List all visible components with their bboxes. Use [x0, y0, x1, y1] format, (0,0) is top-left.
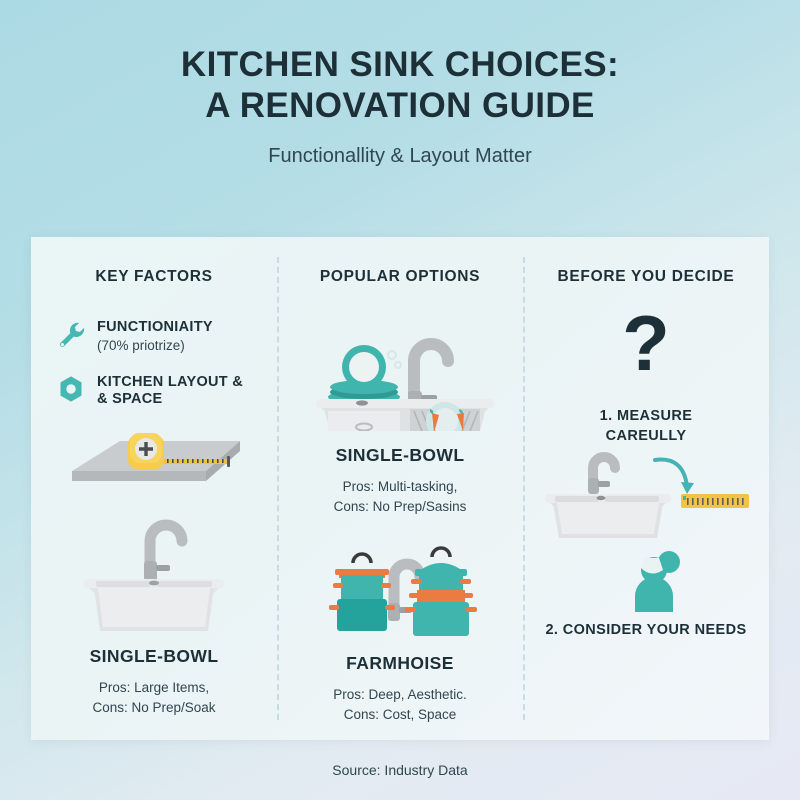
column-heading-key-factors: KEY FACTORS: [31, 268, 277, 286]
key-factor-text: KITCHEN LAYOUT & & SPACE: [97, 372, 243, 408]
block-pros: Pros: Large Items,: [31, 678, 277, 698]
question-mark-icon: ?: [523, 302, 769, 384]
block-description: Pros: Multi-tasking, Cons: No Prep/Sasin…: [277, 477, 523, 517]
header: KITCHEN SINK CHOICES: A RENOVATION GUIDE…: [0, 44, 800, 169]
key-factor-text: FUNCTIONIAITY (70% priotrize): [97, 317, 213, 355]
column-key-factors: KEY FACTORS FUNCTIONIAITY (70% priotrize…: [31, 237, 277, 740]
sink-with-ruler-and-arrow-illustration: [523, 452, 769, 544]
stacked-pots-with-faucet-illustration: [277, 541, 523, 641]
block-description: Pros: Deep, Aesthetic. Cons: Cost, Space: [277, 685, 523, 725]
key-factor-item: KITCHEN LAYOUT & & SPACE: [54, 372, 277, 408]
page-title-line-2: A RENOVATION GUIDE: [0, 85, 800, 126]
page-title: KITCHEN SINK CHOICES: A RENOVATION GUIDE: [0, 44, 800, 126]
key-factor-label-second-line: & SPACE: [97, 391, 243, 408]
block-pros: Pros: Deep, Aesthetic.: [277, 685, 523, 705]
block-description: Pros: Large Items, Cons: No Prep/Soak: [31, 678, 277, 718]
block-title: SINGLE-BOWL: [277, 445, 523, 466]
nut-icon: [54, 372, 88, 406]
block-cons: Cons: No Prep/Sasins: [277, 497, 523, 517]
key-factor-item: FUNCTIONIAITY (70% priotrize): [54, 317, 277, 355]
popular-option-block-2: FARMHOISE Pros: Deep, Aesthetic. Cons: C…: [277, 653, 523, 725]
block-cons: Cons: Cost, Space: [277, 705, 523, 725]
step-2-label: 2. CONSIDER YOUR NEEDS: [523, 620, 769, 640]
step-1-label-line-2: CAREULLY: [523, 426, 769, 446]
double-bowl-sink-with-dishes-illustration: [277, 319, 523, 431]
single-bowl-left-block: SINGLE-BOWL Pros: Large Items, Cons: No …: [31, 646, 277, 718]
block-pros: Pros: Multi-tasking,: [277, 477, 523, 497]
column-before-you-decide: BEFORE YOU DECIDE ? 1. MEASURE CAREULLY: [523, 237, 769, 740]
content-card: KEY FACTORS FUNCTIONIAITY (70% priotrize…: [31, 237, 769, 740]
step-2-label-line-1: 2. CONSIDER YOUR NEEDS: [523, 620, 769, 640]
footer-source: Source: Industry Data: [0, 762, 800, 778]
step-1-label-line-1: 1. MEASURE: [523, 406, 769, 426]
step-1-label: 1. MEASURE CAREULLY: [523, 406, 769, 446]
popular-option-block-1: SINGLE-BOWL Pros: Multi-tasking, Cons: N…: [277, 445, 523, 517]
single-bowl-sink-illustration: [31, 509, 277, 634]
page-subtitle: Functionallity & Layout Matter: [0, 143, 800, 169]
person-thinking-illustration: [523, 546, 769, 612]
block-title: FARMHOISE: [277, 653, 523, 674]
column-heading-popular-options: POPULAR OPTIONS: [277, 268, 523, 286]
columns-container: KEY FACTORS FUNCTIONIAITY (70% priotrize…: [31, 237, 769, 740]
key-factors-list: FUNCTIONIAITY (70% priotrize) KITCHEN LA…: [31, 317, 277, 408]
key-factor-note: (70% priotrize): [97, 337, 213, 355]
page-title-line-1: KITCHEN SINK CHOICES:: [0, 44, 800, 85]
wrench-icon: [54, 317, 88, 351]
block-title: SINGLE-BOWL: [31, 646, 277, 667]
countertop-tape-measure-illustration: [31, 425, 277, 503]
key-factor-label: KITCHEN LAYOUT &: [97, 374, 243, 390]
key-factor-label: FUNCTIONIAITY: [97, 319, 213, 335]
block-cons: Cons: No Prep/Soak: [31, 698, 277, 718]
column-heading-before-you-decide: BEFORE YOU DECIDE: [523, 268, 769, 286]
column-popular-options: POPULAR OPTIONS: [277, 237, 523, 740]
